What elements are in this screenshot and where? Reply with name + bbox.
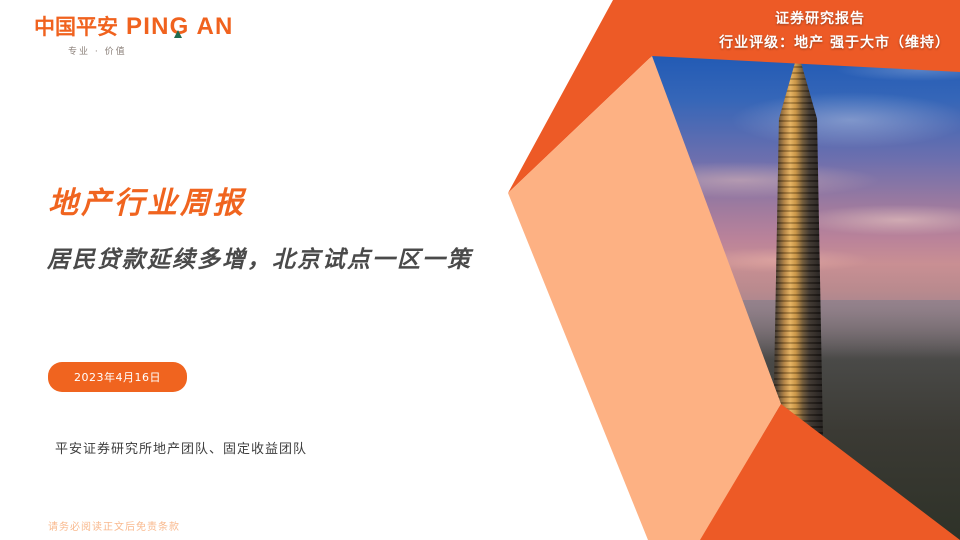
page-subtitle: 居民贷款延续多增，北京试点一区一策 [47, 240, 472, 274]
report-type-label: 证券研究报告 [719, 8, 950, 28]
page-title: 地产行业周报 [48, 178, 246, 222]
publish-date-badge: 2023年4月16日 [48, 362, 187, 392]
logo-chinese-name: 中国平安 [34, 17, 118, 38]
report-cover-slide: 中国平安 PING AN 专业 · 价值 证券研究报告 行业评级：地产 强于大市… [0, 0, 960, 540]
logo-triangle-icon [174, 30, 182, 38]
logo-row: 中国平安 PING AN [34, 15, 234, 39]
disclaimer-text: 请务必阅读正文后免责条款 [48, 518, 180, 533]
logo-tagline: 专业 · 价值 [68, 44, 234, 57]
pingan-logo: 中国平安 PING AN 专业 · 价值 [34, 15, 234, 57]
research-team-label: 平安证券研究所地产团队、固定收益团队 [55, 438, 307, 457]
header-block: 证券研究报告 行业评级：地产 强于大市（维持） [719, 8, 950, 52]
industry-rating-label: 行业评级：地产 强于大市（维持） [719, 32, 950, 52]
logo-english-name: PING AN [126, 15, 234, 39]
